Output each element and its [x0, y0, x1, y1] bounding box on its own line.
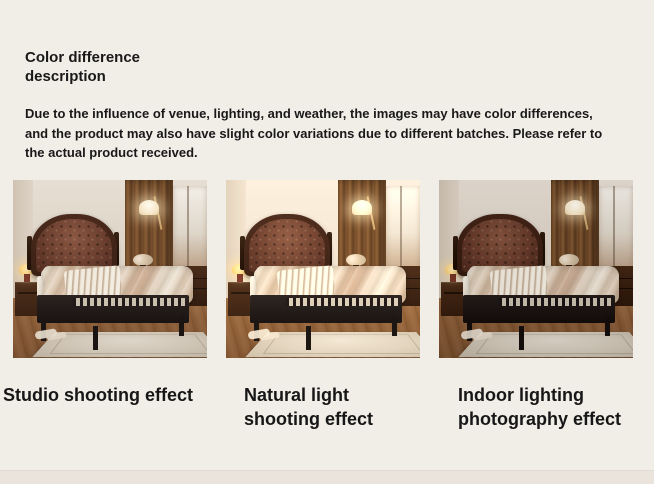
wall-sconce-icon — [139, 196, 161, 222]
bed-slats — [73, 298, 185, 306]
page-title: Color difference description — [25, 48, 625, 86]
product-image-gallery — [13, 180, 641, 358]
caption-studio: Studio shooting effect — [3, 383, 233, 407]
bed-leg — [392, 316, 397, 336]
bed-leg — [179, 316, 184, 336]
color-difference-page: Color difference description Due to the … — [0, 0, 654, 483]
wall-sconce-icon — [352, 196, 374, 222]
bed-leg — [605, 316, 610, 336]
bed-leg — [519, 326, 524, 350]
disclaimer-text: Due to the influence of venue, lighting,… — [25, 104, 605, 163]
header-block: Color difference description Due to the … — [25, 48, 625, 86]
bedroom-scene-studio — [13, 180, 207, 358]
bedroom-scene-indoor — [439, 180, 633, 358]
window — [599, 186, 633, 272]
gallery-image-studio[interactable] — [13, 180, 207, 358]
window — [386, 186, 420, 272]
caption-natural-light: Natural light shooting effect — [244, 383, 444, 431]
bed-slats — [286, 298, 398, 306]
bed-slats — [499, 298, 611, 306]
window — [173, 186, 207, 272]
bedroom-scene-natural — [226, 180, 420, 358]
gallery-image-natural-light[interactable] — [226, 180, 420, 358]
gallery-image-indoor-lighting[interactable] — [439, 180, 633, 358]
bed-leg — [93, 326, 98, 350]
gallery-captions: Studio shooting effect Natural light sho… — [0, 383, 654, 453]
bottom-divider — [0, 470, 654, 484]
wall-sconce-icon — [565, 196, 587, 222]
caption-indoor-lighting: Indoor lighting photography effect — [458, 383, 654, 431]
bed-leg — [306, 326, 311, 350]
